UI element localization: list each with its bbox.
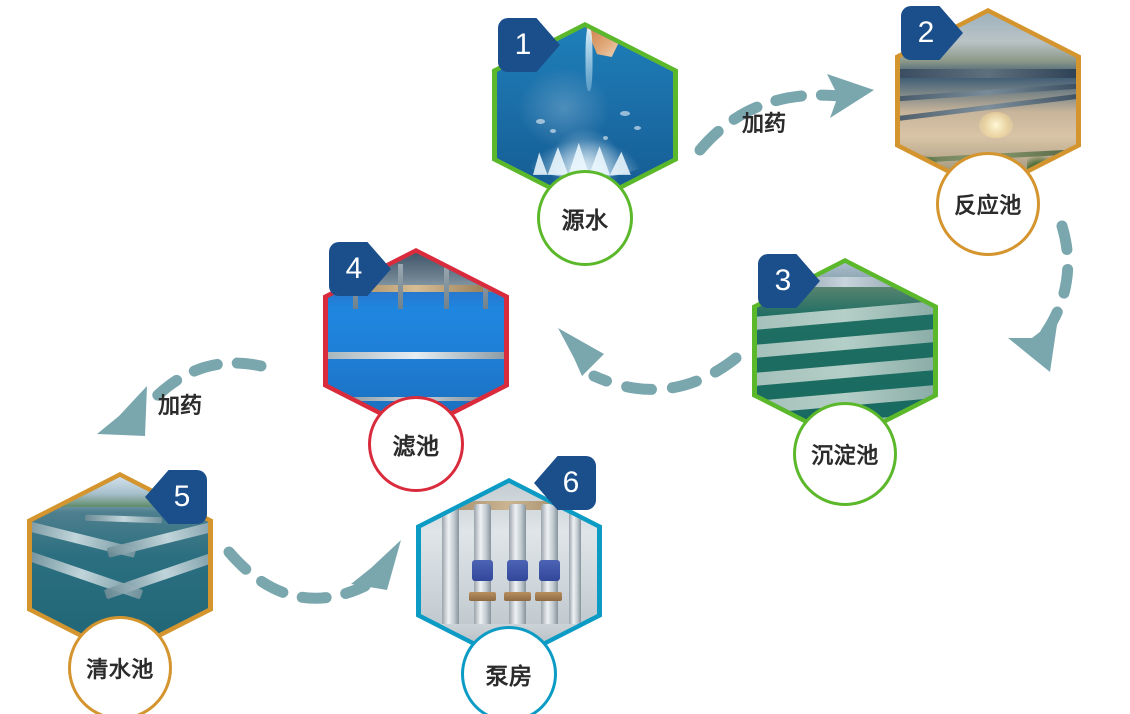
- step-4-caption: 滤池: [368, 396, 464, 492]
- step-node-3[interactable]: 3 沉淀池: [752, 258, 938, 472]
- connector-3-to-4: [540, 318, 770, 413]
- step-5-number: 5: [174, 482, 191, 512]
- step-node-4[interactable]: 4 滤池: [323, 248, 509, 462]
- connector-4-to-5-label: 加药: [158, 388, 202, 420]
- step-2-caption: 反应池: [936, 152, 1040, 256]
- connector-1-to-2-arrowhead: [827, 74, 874, 118]
- connector-3-to-4-path: [594, 358, 736, 389]
- step-6-caption: 泵房: [461, 626, 557, 714]
- step-node-2[interactable]: 2 反应池: [895, 8, 1081, 222]
- step-node-5[interactable]: 5 清水池: [27, 472, 213, 686]
- connector-5-to-6: [215, 528, 425, 633]
- connector-1-to-2: [690, 50, 890, 160]
- connector-4-to-5-arrowhead: [97, 386, 147, 436]
- connector-2-to-3-arrowhead: [1008, 318, 1058, 372]
- step-1-caption: 源水: [537, 170, 633, 266]
- step-4-label: 滤池: [393, 427, 440, 461]
- step-6-number: 6: [563, 468, 580, 498]
- step-2-label: 反应池: [954, 188, 1022, 220]
- step-node-6[interactable]: 6 泵房: [416, 478, 602, 692]
- step-1-number: 1: [515, 30, 532, 60]
- step-5-label: 清水池: [86, 652, 154, 684]
- step-node-1[interactable]: 1 源水: [492, 22, 678, 236]
- step-2-number: 2: [918, 18, 935, 48]
- step-4-number: 4: [346, 254, 363, 284]
- process-flow-diagram: 加药 加药: [0, 0, 1130, 714]
- step-1-label: 源水: [562, 201, 609, 235]
- step-5-caption: 清水池: [68, 616, 172, 714]
- connector-3-to-4-arrowhead: [558, 328, 604, 376]
- connector-5-to-6-arrowhead: [351, 540, 401, 590]
- connector-1-to-2-label: 加药: [742, 106, 786, 138]
- step-3-label: 沉淀池: [811, 438, 879, 470]
- step-3-caption: 沉淀池: [793, 402, 897, 506]
- connector-5-to-6-path: [229, 552, 365, 598]
- connector-2-to-3-path: [1042, 226, 1068, 338]
- connector-2-to-3: [1000, 222, 1130, 392]
- step-3-number: 3: [775, 266, 792, 296]
- step-6-label: 泵房: [486, 657, 533, 691]
